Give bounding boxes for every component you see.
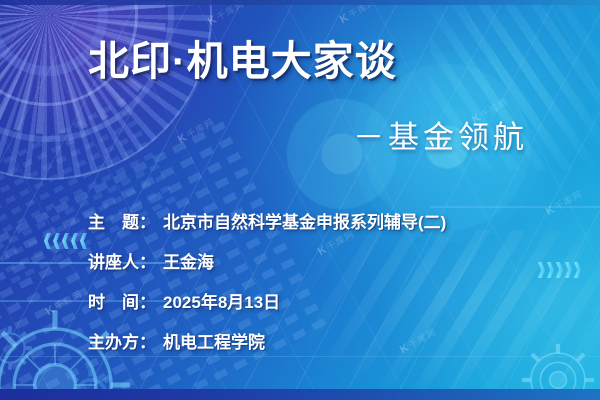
info-row-organizer: 主办方： 机电工程学院 <box>88 328 446 353</box>
gear-icon-small <box>0 322 36 374</box>
info-value: 机电工程学院 <box>163 328 265 353</box>
chevron-left-icon <box>44 233 87 249</box>
radial-tech-dial-icon <box>0 0 212 180</box>
gear-icon-corner <box>516 338 600 400</box>
top-band <box>0 0 600 5</box>
poster-subtitle: －基金领航 <box>353 122 528 153</box>
info-label: 讲座人： <box>88 248 156 273</box>
poster-canvas: 千库网 千库网 千库网 千库网 千库网 千库网 千库网 千库网 北印·机电大家谈… <box>0 0 600 400</box>
info-value: 王金海 <box>163 248 214 273</box>
poster-title: 北印·机电大家谈 <box>88 41 397 82</box>
info-label: 主 题： <box>88 208 156 233</box>
info-value: 2025年8月13日 <box>163 288 280 313</box>
watermark: 千库网 <box>43 287 84 318</box>
info-row-time: 时 间： 2025年8月13日 <box>88 288 446 313</box>
dial-ring-outer <box>0 0 212 180</box>
watermark: 千库网 <box>543 187 584 218</box>
gear-icon-bottom <box>62 366 120 400</box>
info-row-speaker: 讲座人： 王金海 <box>88 248 446 273</box>
info-label: 时 间： <box>88 288 156 313</box>
info-label: 主办方： <box>88 328 156 353</box>
watermark: 千库网 <box>337 0 378 26</box>
watermark: 千库网 <box>175 115 216 146</box>
bottom-band <box>0 389 600 400</box>
chevron-right-icon <box>538 262 581 278</box>
poster-info-block: 主 题： 北京市自然科学基金申报系列辅导(二) 讲座人： 王金海 时 间： 20… <box>88 208 446 353</box>
info-row-topic: 主 题： 北京市自然科学基金申报系列辅导(二) <box>88 208 446 233</box>
watermark: 千库网 <box>205 0 246 28</box>
info-value: 北京市自然科学基金申报系列辅导(二) <box>163 208 446 233</box>
